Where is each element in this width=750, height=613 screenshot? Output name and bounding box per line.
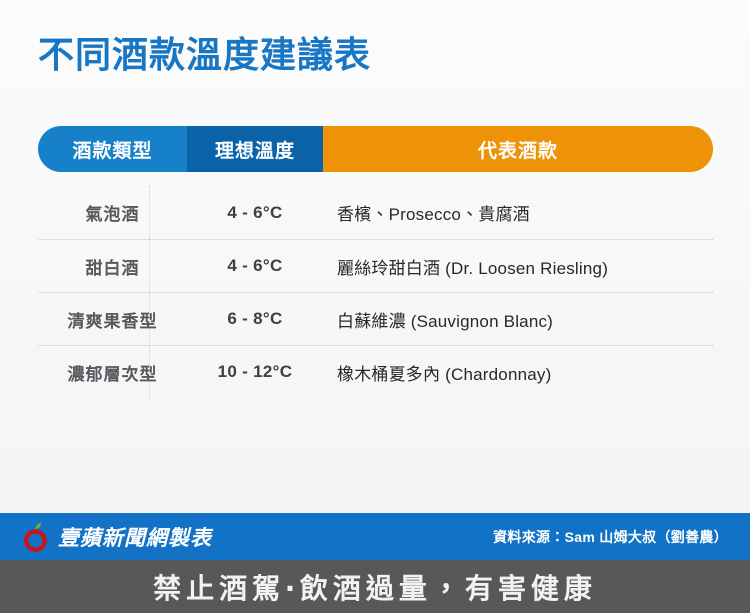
warning-text: 禁止酒駕‧飲酒過量，有害健康: [153, 567, 597, 607]
cell-type: 清爽果香型: [38, 307, 187, 332]
cell-representative: 橡木桶夏多內 (Chardonnay): [323, 360, 713, 385]
page-title: 不同酒款溫度建議表: [38, 32, 371, 79]
cell-temperature: 4 - 6°C: [187, 256, 323, 276]
brand-name-label: 壹蘋新聞網製表: [58, 522, 212, 552]
table-row: 甜白酒 4 - 6°C 麗絲玲甜白酒 (Dr. Loosen Riesling): [38, 239, 713, 292]
column-header-type: 酒款類型: [38, 126, 187, 172]
table-body: 氣泡酒 4 - 6°C 香檳、Prosecco、貴腐酒 甜白酒 4 - 6°C …: [38, 186, 713, 398]
brand-footer-bar: 壹蘋新聞網製表 資料來源：Sam 山姆大叔（劉善農）: [0, 513, 750, 560]
infographic-root: 不同酒款溫度建議表 酒款類型 理想溫度 代表酒款 氣泡酒 4 - 6°C 香檳、…: [0, 0, 750, 613]
warning-bar: 禁止酒駕‧飲酒過量，有害健康: [0, 560, 750, 613]
cell-temperature: 10 - 12°C: [187, 362, 323, 382]
cell-type: 濃郁層次型: [38, 360, 187, 385]
cell-representative: 香檳、Prosecco、貴腐酒: [323, 200, 713, 225]
table-row: 濃郁層次型 10 - 12°C 橡木桶夏多內 (Chardonnay): [38, 345, 713, 398]
table-header-bar: 酒款類型 理想溫度 代表酒款: [38, 126, 713, 172]
column-header-temperature: 理想溫度: [187, 126, 323, 172]
cell-representative: 麗絲玲甜白酒 (Dr. Loosen Riesling): [323, 254, 713, 279]
column-header-representative: 代表酒款: [323, 126, 713, 172]
table-row: 氣泡酒 4 - 6°C 香檳、Prosecco、貴腐酒: [38, 186, 713, 239]
cell-type: 氣泡酒: [38, 200, 187, 225]
cell-temperature: 6 - 8°C: [187, 309, 323, 329]
source-credit: 資料來源：Sam 山姆大叔（劉善農）: [493, 527, 728, 547]
table-row: 清爽果香型 6 - 8°C 白蘇維濃 (Sauvignon Blanc): [38, 292, 713, 345]
cell-temperature: 4 - 6°C: [187, 203, 323, 223]
apple-logo-icon: [22, 522, 50, 552]
cell-representative: 白蘇維濃 (Sauvignon Blanc): [323, 307, 713, 332]
cell-type: 甜白酒: [38, 254, 187, 279]
brand-lockup: 壹蘋新聞網製表: [22, 522, 212, 552]
